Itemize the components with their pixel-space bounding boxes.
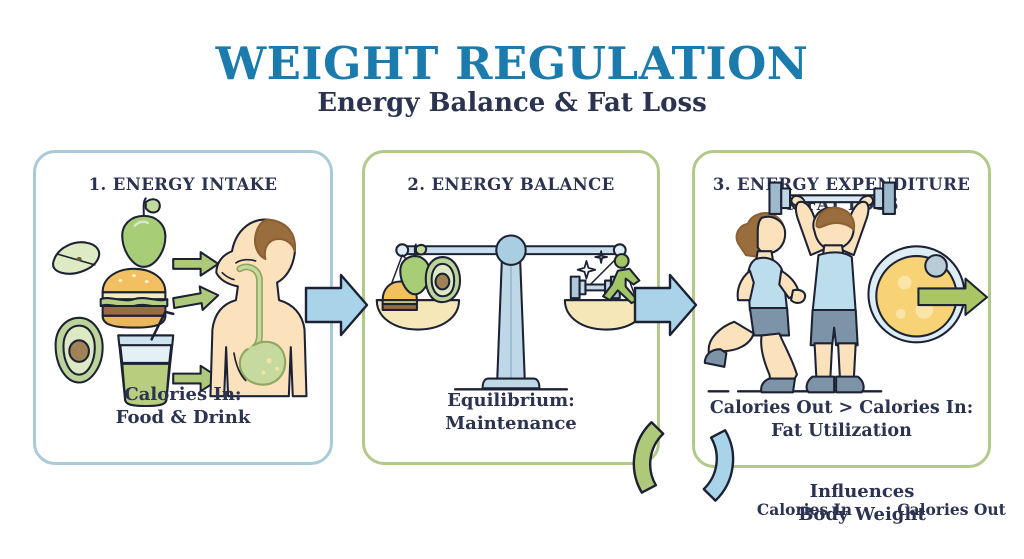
running-woman-icon (705, 213, 805, 392)
panel-3-caption: Calories Out > Calories In: Fat Utilizat… (695, 397, 988, 443)
influences-line2: Body Weight (757, 503, 967, 526)
sparkle-icon (578, 251, 607, 278)
panel-2-caption-line1: Equilibrium: (365, 389, 657, 412)
intake-arrow-2 (173, 286, 218, 310)
apple-slice-icon (53, 242, 99, 273)
panel-energy-balance[interactable]: 2. ENERGY BALANCE (362, 150, 660, 465)
infographic-canvas: WEIGHT REGULATION Energy Balance & Fat L… (0, 0, 1024, 559)
panel-2-caption: Equilibrium: Maintenance (365, 389, 657, 435)
panel-3-caption-line1: Calories Out > Calories In: (695, 397, 988, 420)
panel-2-caption-line2: Maintenance (365, 412, 657, 435)
panel-3-caption-line2: Fat Utilization (695, 420, 988, 443)
influences-body-weight-label: Influences Body Weight (757, 480, 967, 526)
panel-energy-expenditure[interactable]: 3. ENERGY EXPENDITURE & FAT LOSS (692, 150, 991, 468)
burger-icon (101, 269, 168, 328)
panel-energy-intake[interactable]: 1. ENERGY INTAKE (33, 150, 333, 465)
runner-icon (603, 254, 639, 303)
panel-1-caption-line1: Calories In: (36, 383, 330, 406)
panel-1-caption-line2: Food & Drink (36, 406, 330, 429)
human-digestion-icon (210, 220, 306, 397)
page-subtitle: Energy Balance & Fat Loss (0, 88, 1024, 118)
pan-activity-group (571, 251, 640, 303)
avocado-icon (56, 318, 103, 383)
influences-line1: Influences (757, 480, 967, 503)
intake-arrow-1 (173, 252, 218, 276)
page-title: WEIGHT REGULATION (0, 37, 1024, 90)
apple-icon (122, 198, 165, 267)
panel-1-caption: Calories In: Food & Drink (36, 383, 330, 429)
